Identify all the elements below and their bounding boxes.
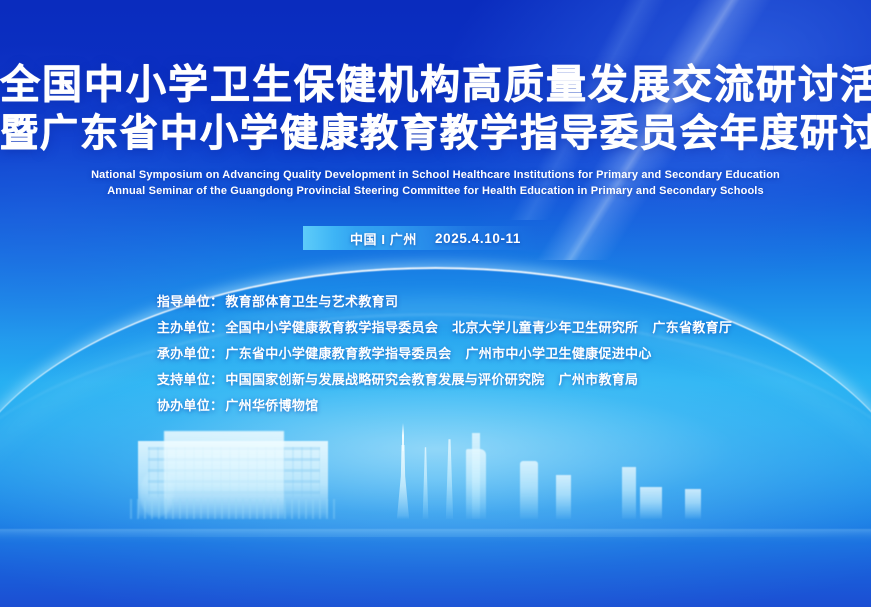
organization-label: 主办单位： xyxy=(157,320,224,335)
organizations-list: 指导单位：教育部体育卫生与艺术教育司主办单位：全国中小学健康教育教学指导委员会北… xyxy=(139,288,732,418)
tower-icon-5 xyxy=(520,461,538,519)
banner-content: 全国中小学卫生保健机构高质量发展交流研讨活动 暨广东省中小学健康教育教学指导委员… xyxy=(0,0,871,418)
organization-label: 协办单位： xyxy=(157,398,224,413)
event-info-badge: 中国 I 广州 2025.4.10-11 xyxy=(303,226,568,250)
organization-name: 广州市中小学卫生健康促进中心 xyxy=(465,346,651,361)
tree-icon xyxy=(140,469,174,517)
organization-label: 支持单位： xyxy=(157,372,224,387)
organization-row: 承办单位：广东省中小学健康教育教学指导委员会广州市中小学卫生健康促进中心 xyxy=(157,340,732,366)
tower-icon-2 xyxy=(443,439,456,519)
tower-icon-6 xyxy=(556,475,571,519)
title-block: 全国中小学卫生保健机构高质量发展交流研讨活动 暨广东省中小学健康教育教学指导委员… xyxy=(0,0,871,155)
event-info-badge-wrap: 中国 I 广州 2025.4.10-11 xyxy=(0,226,871,250)
organization-name: 广州华侨博物馆 xyxy=(225,398,318,413)
event-location: 中国 I 广州 xyxy=(350,229,417,248)
tower-icon-1 xyxy=(420,447,431,519)
canton-tower-icon xyxy=(392,423,414,519)
organization-label: 指导单位： xyxy=(157,294,224,309)
english-subtitle-line-2: Annual Seminar of the Guangdong Provinci… xyxy=(0,184,871,200)
organization-row: 指导单位：教育部体育卫生与艺术教育司 xyxy=(157,288,732,314)
organization-name: 广州市教育局 xyxy=(559,372,639,387)
tower-icon-3 xyxy=(466,449,486,519)
organization-name: 广东省教育厅 xyxy=(652,320,732,335)
english-subtitle-line-1: National Symposium on Advancing Quality … xyxy=(0,168,871,184)
english-subtitle: National Symposium on Advancing Quality … xyxy=(0,168,871,200)
organization-row: 主办单位：全国中小学健康教育教学指导委员会北京大学儿童青少年卫生研究所广东省教育… xyxy=(157,314,732,340)
school-building-icon xyxy=(138,441,328,519)
main-title-line-1: 全国中小学卫生保健机构高质量发展交流研讨活动 xyxy=(0,64,871,107)
tower-icon-9 xyxy=(685,489,701,519)
tower-icon-7 xyxy=(622,467,636,519)
conference-banner: 全国中小学卫生保健机构高质量发展交流研讨活动 暨广东省中小学健康教育教学指导委员… xyxy=(0,0,871,607)
organization-name: 教育部体育卫生与艺术教育司 xyxy=(225,294,398,309)
organization-name: 广东省中小学健康教育教学指导委员会 xyxy=(225,346,451,361)
crowd-silhouette xyxy=(130,499,340,519)
organization-name: 全国中小学健康教育教学指导委员会 xyxy=(225,320,438,335)
organization-row: 支持单位：中国国家创新与发展战略研究会教育发展与评价研究院广州市教育局 xyxy=(157,366,732,392)
main-title-line-2: 暨广东省中小学健康教育教学指导委员会年度研讨活动 xyxy=(0,114,871,155)
tower-icon-4 xyxy=(472,433,480,519)
organization-label: 承办单位： xyxy=(157,346,224,361)
organization-row: 协办单位：广州华侨博物馆 xyxy=(157,392,732,418)
tower-icon-8 xyxy=(640,487,662,519)
organization-name: 中国国家创新与发展战略研究会教育发展与评价研究院 xyxy=(225,372,544,387)
organization-name: 北京大学儿童青少年卫生研究所 xyxy=(452,320,638,335)
event-date: 2025.4.10-11 xyxy=(435,231,521,246)
